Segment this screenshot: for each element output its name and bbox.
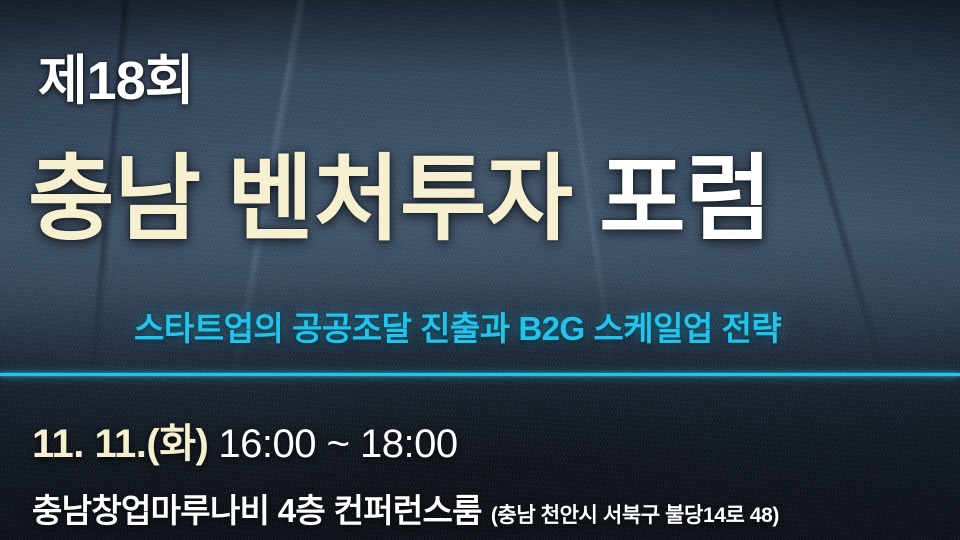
title-part-primary: 충남 벤처투자: [28, 146, 599, 251]
section-divider: [0, 373, 960, 376]
venue-address: (충남 천안시 서북구 불당14로 48): [491, 504, 779, 527]
event-time: 16:00 ~ 18:00: [218, 422, 457, 466]
forum-poster: 제18회 충남 벤처투자 포럼 스타트업의 공공조달 진출과 B2G 스케일업 …: [0, 0, 960, 540]
subtitle: 스타트업의 공공조달 진출과 B2G 스케일업 전략: [134, 312, 781, 345]
event-date: 11. 11.(화): [32, 422, 208, 466]
page-title: 충남 벤처투자 포럼: [28, 152, 772, 246]
issue-number: 제18회: [38, 54, 193, 108]
title-part-accent: 포럼: [599, 146, 772, 251]
poster-content: 제18회 충남 벤처투자 포럼 스타트업의 공공조달 진출과 B2G 스케일업 …: [0, 0, 960, 540]
event-datetime: 11. 11.(화)16:00 ~ 18:00: [32, 424, 458, 464]
event-venue: 충남창업마루나비 4층 컨퍼런스룸(충남 천안시 서북구 불당14로 48): [32, 494, 779, 527]
venue-name: 충남창업마루나비 4층 컨퍼런스룸: [32, 492, 482, 529]
